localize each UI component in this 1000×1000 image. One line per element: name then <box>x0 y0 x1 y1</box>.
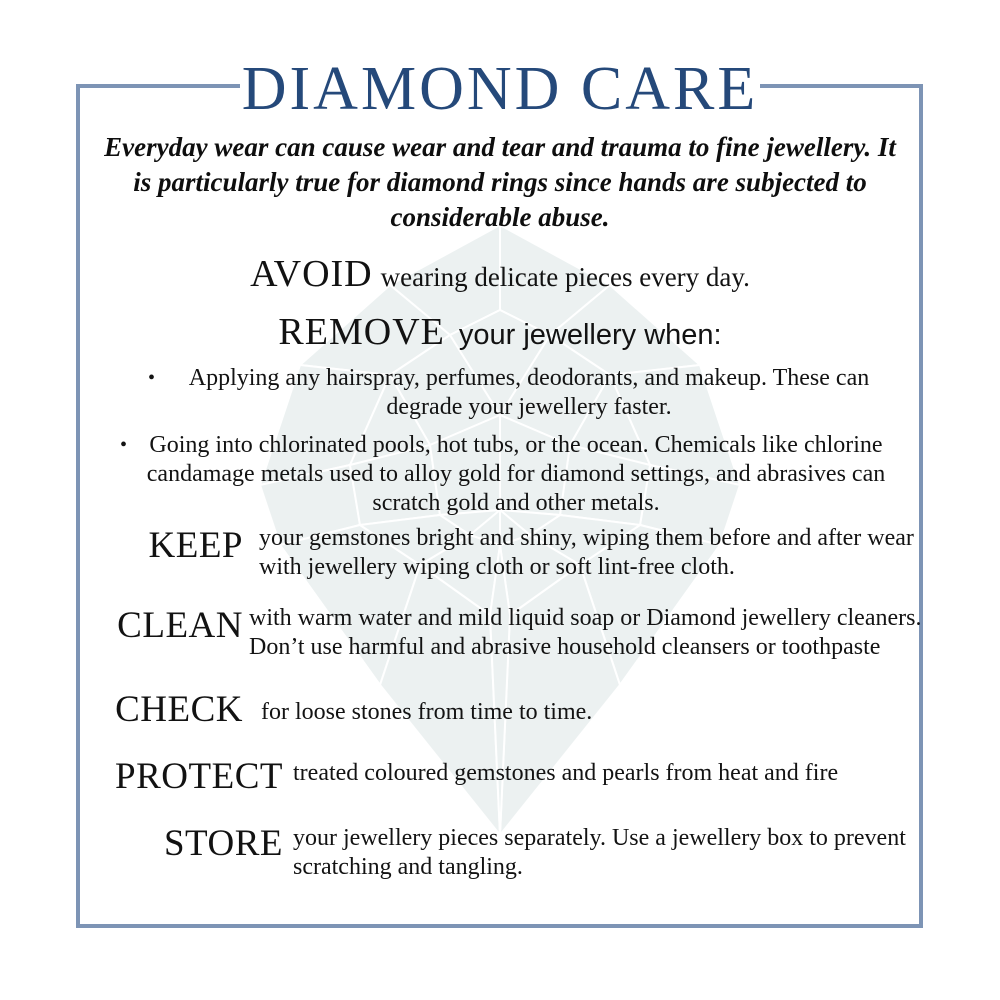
bullet-marker-icon: • <box>148 364 155 393</box>
care-instruction-rows: KEEP your gemstones bright and shiny, wi… <box>78 524 923 892</box>
list-item-text: Applying any hairspray, perfumes, deodor… <box>110 364 900 422</box>
avoid-body: wearing delicate pieces every day. <box>381 262 750 292</box>
keyword-keep-body: your gemstones bright and shiny, wiping … <box>243 524 923 582</box>
remove-keyword: REMOVE <box>278 311 444 353</box>
list-item: • Going into chlorinated pools, hot tubs… <box>110 431 900 518</box>
care-row-clean: CLEAN with warm water and mild liquid so… <box>78 604 923 662</box>
keyword-store: STORE <box>78 822 283 863</box>
avoid-line: AVOIDwearing delicate pieces every day. <box>100 252 900 296</box>
care-row-check: CHECK for loose stones from time to time… <box>78 688 923 729</box>
remove-body: your jewellery when: <box>459 319 722 351</box>
keyword-check: CHECK <box>78 688 243 729</box>
care-row-protect: PROTECT treated coloured gemstones and p… <box>78 755 923 796</box>
remove-line: REMOVEyour jewellery when: <box>100 310 900 354</box>
bullet-marker-icon: • <box>120 431 127 460</box>
avoid-keyword: AVOID <box>250 253 373 295</box>
keyword-check-body: for loose stones from time to time. <box>243 688 923 727</box>
page-title: DIAMOND CARE <box>0 58 1000 120</box>
keyword-protect: PROTECT <box>78 755 283 796</box>
list-item: • Applying any hairspray, perfumes, deod… <box>110 364 900 422</box>
poster-content: DIAMOND CARE Everyday wear can cause wea… <box>0 0 1000 1000</box>
intro-paragraph: Everyday wear can cause wear and tear an… <box>100 130 900 235</box>
keyword-protect-body: treated coloured gemstones and pearls fr… <box>283 755 923 788</box>
remove-bullet-list: • Applying any hairspray, perfumes, deod… <box>110 364 900 527</box>
keyword-keep: KEEP <box>78 524 243 565</box>
diamond-care-poster: DIAMOND CARE Everyday wear can cause wea… <box>0 0 1000 1000</box>
list-item-text: Going into chlorinated pools, hot tubs, … <box>110 431 900 518</box>
care-row-keep: KEEP your gemstones bright and shiny, wi… <box>78 524 923 582</box>
keyword-store-body: your jewellery pieces separately. Use a … <box>283 822 923 882</box>
keyword-clean: CLEAN <box>78 604 243 645</box>
care-row-store: STORE your jewellery pieces separately. … <box>78 822 923 882</box>
keyword-clean-body: with warm water and mild liquid soap or … <box>243 604 923 662</box>
